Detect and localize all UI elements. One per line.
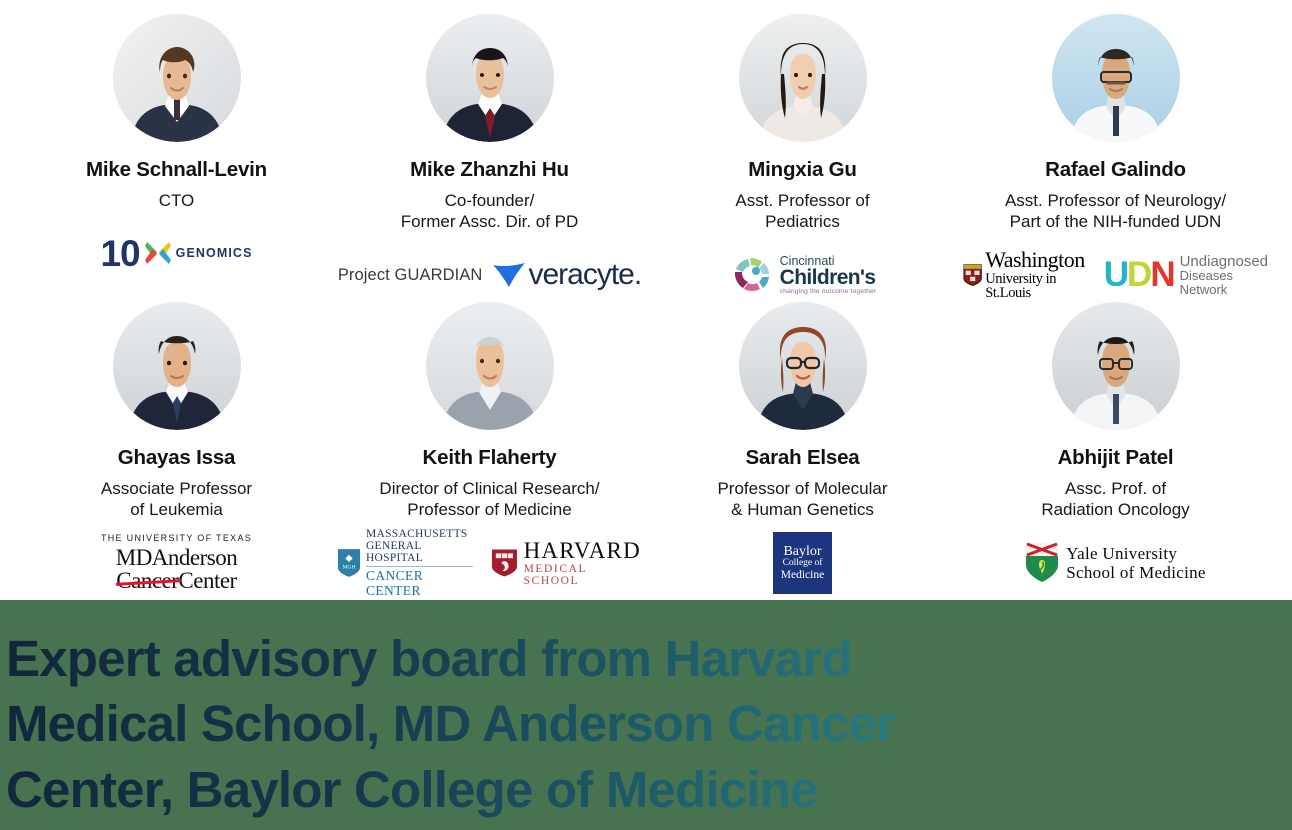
udn-letter-u: U bbox=[1104, 260, 1127, 290]
advisory-board-slide: Mike Schnall-Levin CTO 10 GENOMICS bbox=[0, 0, 1292, 830]
avatar bbox=[113, 14, 241, 142]
udn-letter-n: N bbox=[1150, 260, 1173, 290]
washington-university-crest-icon bbox=[963, 262, 982, 288]
person-card: Keith Flaherty Director of Clinical Rese… bbox=[333, 302, 646, 594]
affiliation-logos: Baylor College of Medicine bbox=[650, 532, 955, 594]
mgh-line2: GENERAL HOSPITAL bbox=[366, 541, 473, 565]
affiliation-logos: Cincinnati Children's changing the outco… bbox=[650, 244, 955, 306]
headline-banner: Expert advisory board from Harvard Medic… bbox=[0, 600, 1292, 830]
udn-logo: UDN Undiagnosed Diseases Network bbox=[1104, 254, 1268, 297]
affiliation-logos: 10 GENOMICS bbox=[24, 222, 329, 284]
md-anderson-cancer-center-logo: THE UNIVERSITY OF TEXAS MDAnderson Cance… bbox=[101, 534, 252, 592]
udn-letter-d: D bbox=[1127, 260, 1150, 290]
md-anderson-center-word: Center bbox=[178, 568, 236, 593]
10x-genomics-wordmark: GENOMICS bbox=[176, 246, 253, 260]
veracyte-logo: veracyte. bbox=[492, 260, 641, 290]
udn-letters: UDN bbox=[1104, 260, 1174, 290]
banner-headline: Expert advisory board from Harvard Medic… bbox=[6, 626, 1282, 822]
10x-genomics-x-mark bbox=[145, 240, 171, 266]
md-anderson-line3: CancerCenter bbox=[116, 569, 236, 592]
person-title: Asst. Professor of Neurology/ Part of th… bbox=[1005, 190, 1226, 234]
person-name: Mingxia Gu bbox=[748, 158, 856, 182]
baylor-line2: College of bbox=[783, 559, 823, 569]
person-title: Professor of Molecular & Human Genetics bbox=[717, 478, 887, 522]
cincinnati-childrens-tagline: changing the outcome together bbox=[780, 289, 877, 296]
person-card: Abhijit Patel Assc. Prof. of Radiation O… bbox=[959, 302, 1272, 594]
10x-genomics-number: 10 bbox=[100, 235, 139, 272]
svg-text:MGH: MGH bbox=[343, 565, 356, 571]
person-card: Mike Zhanzhi Hu Co-founder/ Former Assc.… bbox=[333, 14, 646, 306]
person-card: Rafael Galindo Asst. Professor of Neurol… bbox=[959, 14, 1272, 306]
person-name: Keith Flaherty bbox=[423, 446, 557, 470]
avatar bbox=[426, 14, 554, 142]
person-card: Sarah Elsea Professor of Molecular & Hum… bbox=[646, 302, 959, 594]
mass-general-hospital-cancer-center-logo: MGH MASSACHUSETTS GENERAL HOSPITAL CANCE… bbox=[337, 529, 473, 598]
avatar bbox=[426, 302, 554, 430]
person-card: Mike Schnall-Levin CTO 10 GENOMICS bbox=[20, 14, 333, 284]
harvard-medical-school-logo: HARVARD MEDICAL SCHOOL bbox=[491, 539, 642, 587]
person-title: Director of Clinical Research/ Professor… bbox=[379, 478, 599, 522]
yale-line2: School of Medicine bbox=[1066, 563, 1205, 583]
yale-school-of-medicine-logo: Yale University School of Medicine bbox=[1025, 542, 1205, 584]
person-title: CTO bbox=[159, 190, 195, 212]
mgh-cancer-center: CANCER CENTER bbox=[366, 566, 473, 597]
washington-university-logo: Washington University in St.Louis bbox=[963, 249, 1090, 301]
people-row-2: Ghayas Issa Associate Professor of Leuke… bbox=[20, 302, 1272, 590]
mgh-line1: MASSACHUSETTS bbox=[366, 529, 473, 541]
person-card: Mingxia Gu Asst. Professor of Pediatrics bbox=[646, 14, 959, 306]
cincinnati-childrens-logo: Cincinnati Children's changing the outco… bbox=[729, 252, 877, 298]
avatar bbox=[739, 14, 867, 142]
avatar bbox=[739, 302, 867, 430]
washington-university-line1: Washington bbox=[985, 249, 1090, 271]
baylor-college-of-medicine-logo: Baylor College of Medicine bbox=[773, 532, 832, 594]
person-card: Ghayas Issa Associate Professor of Leuke… bbox=[20, 302, 333, 594]
affiliation-logos: Yale University School of Medicine bbox=[963, 532, 1268, 594]
person-title: Co-founder/ Former Assc. Dir. of PD bbox=[401, 190, 579, 234]
affiliation-logos: MGH MASSACHUSETTS GENERAL HOSPITAL CANCE… bbox=[337, 532, 642, 594]
baylor-line3: Medicine bbox=[781, 569, 824, 581]
affiliation-logos: Washington University in St.Louis UDN Un… bbox=[963, 244, 1268, 306]
avatar bbox=[1052, 14, 1180, 142]
person-title: Asst. Professor of Pediatrics bbox=[735, 190, 869, 234]
avatar bbox=[113, 302, 241, 430]
yale-crest-icon bbox=[1025, 542, 1059, 584]
person-name: Rafael Galindo bbox=[1045, 158, 1186, 182]
udn-line2: Diseases Network bbox=[1180, 269, 1268, 296]
harvard-wordmark: HARVARD bbox=[524, 539, 642, 563]
harvard-shield-icon bbox=[491, 548, 518, 578]
person-name: Abhijit Patel bbox=[1058, 446, 1174, 470]
people-grid: Mike Schnall-Levin CTO 10 GENOMICS bbox=[0, 0, 1292, 600]
person-name: Mike Zhanzhi Hu bbox=[410, 158, 569, 182]
person-title: Assc. Prof. of Radiation Oncology bbox=[1041, 478, 1189, 522]
mgh-shield-icon: MGH bbox=[337, 547, 361, 579]
udn-line1: Undiagnosed bbox=[1180, 254, 1268, 270]
person-title: Associate Professor of Leukemia bbox=[101, 478, 252, 522]
yale-line1: Yale University bbox=[1066, 544, 1205, 564]
people-row-1: Mike Schnall-Levin CTO 10 GENOMICS bbox=[20, 14, 1272, 302]
person-name: Mike Schnall-Levin bbox=[86, 158, 267, 182]
washington-university-line2: University in St.Louis bbox=[985, 272, 1090, 302]
person-name: Ghayas Issa bbox=[118, 446, 235, 470]
md-anderson-line2: MDAnderson bbox=[101, 546, 252, 569]
cincinnati-childrens-swirl-icon bbox=[729, 252, 775, 298]
affiliation-logos: THE UNIVERSITY OF TEXAS MDAnderson Cance… bbox=[24, 532, 329, 594]
cincinnati-childrens-line2: Children's bbox=[780, 267, 877, 288]
affiliation-logos: Project GUARDIAN veracyte. bbox=[337, 244, 642, 306]
veracyte-checkmark-icon bbox=[492, 262, 526, 288]
md-anderson-line1: THE UNIVERSITY OF TEXAS bbox=[101, 534, 252, 543]
veracyte-wordmark: veracyte. bbox=[528, 260, 641, 290]
person-name: Sarah Elsea bbox=[745, 446, 859, 470]
avatar bbox=[1052, 302, 1180, 430]
harvard-medical-school-text: MEDICAL SCHOOL bbox=[524, 563, 642, 587]
project-guardian-logo: Project GUARDIAN bbox=[338, 266, 483, 285]
10x-genomics-logo: 10 GENOMICS bbox=[100, 235, 252, 272]
